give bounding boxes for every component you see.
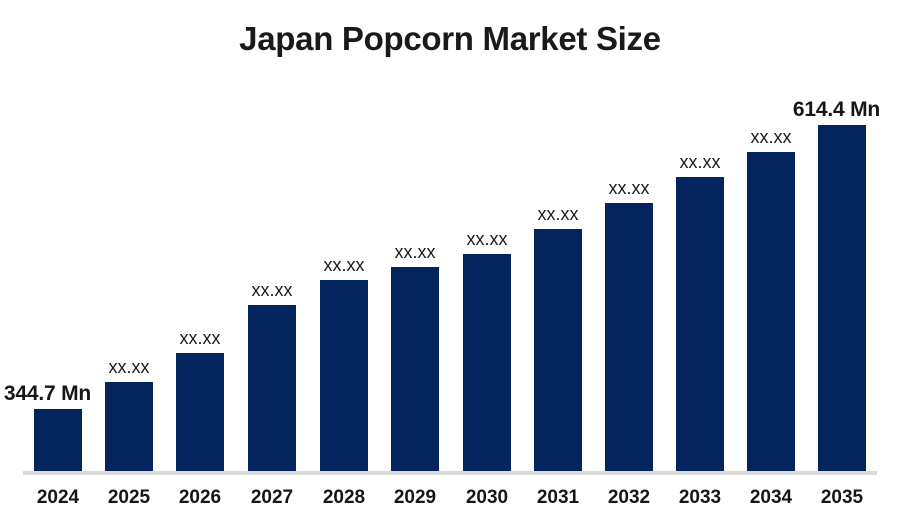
bar-group: xx.xx — [747, 0, 795, 525]
bar[interactable] — [391, 267, 439, 472]
bar[interactable] — [463, 254, 511, 472]
bar-group: xx.xx — [463, 0, 511, 525]
bar-value-label: 614.4 Mn — [793, 99, 880, 121]
bar-group: xx.xx — [676, 0, 724, 525]
bar[interactable] — [34, 409, 82, 472]
bar-group: 614.4 Mn — [818, 0, 866, 525]
bar-group: xx.xx — [320, 0, 368, 525]
x-axis-tick-label: 2026 — [179, 487, 221, 509]
chart-container: Japan Popcorn Market Size 344.7 Mnxx.xxx… — [0, 0, 900, 525]
bar-value-label: xx.xx — [537, 203, 578, 225]
bar-value-label: xx.xx — [323, 254, 364, 276]
x-axis-tick-label: 2033 — [679, 487, 721, 509]
bar-group: xx.xx — [534, 0, 582, 525]
bar[interactable] — [105, 382, 153, 472]
bar-group: xx.xx — [605, 0, 653, 525]
bar-group: xx.xx — [105, 0, 153, 525]
x-axis-tick-label: 2031 — [537, 487, 579, 509]
bar-value-label: xx.xx — [608, 177, 649, 199]
x-axis-tick-label: 2027 — [251, 487, 293, 509]
bar[interactable] — [676, 177, 724, 472]
x-axis-tick-label: 2029 — [394, 487, 436, 509]
bar[interactable] — [176, 353, 224, 472]
bar[interactable] — [320, 280, 368, 472]
x-axis-tick-label: 2030 — [466, 487, 508, 509]
bar-value-label: xx.xx — [750, 126, 791, 148]
bar-value-label: xx.xx — [179, 327, 220, 349]
bar[interactable] — [605, 203, 653, 472]
bar-value-label: xx.xx — [466, 228, 507, 250]
x-axis-tick-label: 2028 — [323, 487, 365, 509]
bar-group: xx.xx — [176, 0, 224, 525]
bar-value-label: xx.xx — [394, 241, 435, 263]
x-axis-tick-label: 2032 — [608, 487, 650, 509]
bar-value-label: xx.xx — [251, 279, 292, 301]
x-axis-line — [23, 471, 877, 475]
bar-group: xx.xx — [248, 0, 296, 525]
bar[interactable] — [248, 305, 296, 472]
bar[interactable] — [747, 152, 795, 472]
x-axis-tick-label: 2025 — [108, 487, 150, 509]
x-axis-tick-label: 2034 — [750, 487, 792, 509]
plot-area: 344.7 Mnxx.xxxx.xxxx.xxxx.xxxx.xxxx.xxxx… — [0, 0, 900, 525]
bar[interactable] — [534, 229, 582, 472]
bar-group: 344.7 Mn — [34, 0, 82, 525]
bar-value-label: xx.xx — [108, 356, 149, 378]
bar-value-label: 344.7 Mn — [4, 383, 91, 405]
x-axis-tick-label: 2024 — [37, 487, 79, 509]
x-axis-tick-label: 2035 — [821, 487, 863, 509]
bar-group: xx.xx — [391, 0, 439, 525]
bar[interactable] — [818, 125, 866, 472]
bar-value-label: xx.xx — [679, 151, 720, 173]
